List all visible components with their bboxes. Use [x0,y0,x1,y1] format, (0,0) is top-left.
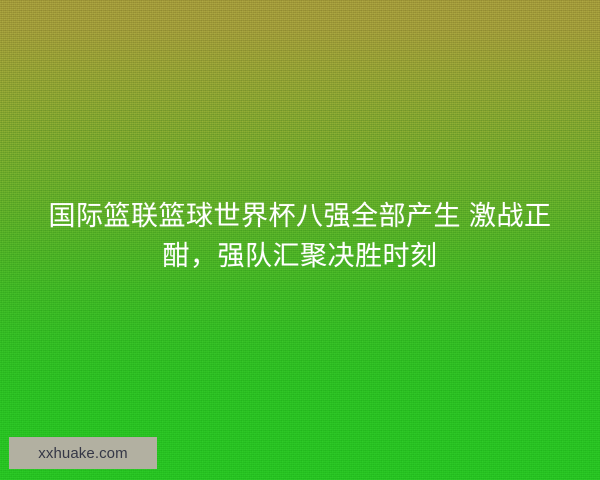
headline-title: 国际篮联篮球世界杯八强全部产生 激战正酣，强队汇聚决胜时刻 [0,196,600,276]
watermark-text: xxhuake.com [38,446,127,461]
watermark-badge: xxhuake.com [9,437,157,469]
image-canvas: 国际篮联篮球世界杯八强全部产生 激战正酣，强队汇聚决胜时刻 xxhuake.co… [0,0,600,480]
